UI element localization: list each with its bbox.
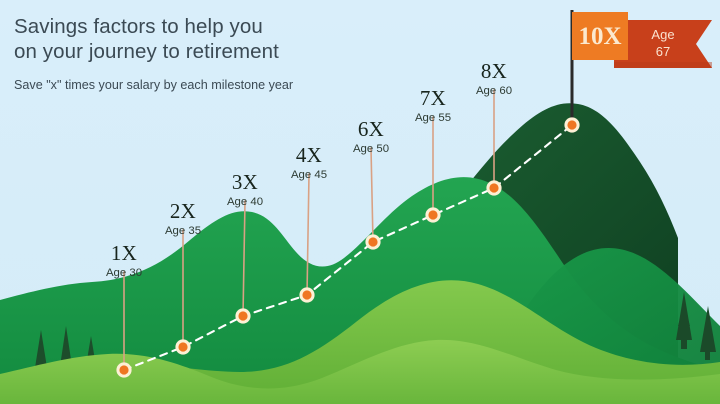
milestone-multiplier: 3X [227, 171, 263, 193]
milestone-multiplier: 4X [291, 144, 327, 166]
marker-6x[interactable] [365, 234, 380, 249]
milestone-label-2x[interactable]: 2X Age 35 [165, 200, 201, 238]
milestone-label-1x[interactable]: 1X Age 30 [106, 242, 142, 280]
retirement-flag[interactable]: 10X Age 67 [540, 4, 716, 124]
heading-block: Savings factors to help you on your jour… [14, 14, 414, 93]
milestone-label-7x[interactable]: 7X Age 55 [415, 87, 451, 125]
milestone-label-3x[interactable]: 3X Age 40 [227, 171, 263, 209]
flag-age-label: Age [651, 27, 674, 42]
flag-multiplier-text: 10X [578, 23, 621, 50]
page-title-line1: Savings factors to help you [14, 14, 414, 39]
milestone-multiplier: 2X [165, 200, 201, 222]
milestone-multiplier: 8X [476, 60, 512, 82]
stem-6x [371, 148, 373, 242]
milestone-label-8x[interactable]: 8X Age 60 [476, 60, 512, 98]
flag-ribbon-shadow [614, 62, 712, 68]
milestone-age: Age 55 [415, 111, 451, 125]
marker-7x[interactable] [425, 207, 440, 222]
stem-3x [243, 201, 245, 316]
milestone-label-6x[interactable]: 6X Age 50 [353, 118, 389, 156]
milestone-multiplier: 7X [415, 87, 451, 109]
page-subtitle: Save "x" times your salary by each miles… [14, 77, 414, 93]
milestone-age: Age 60 [476, 84, 512, 98]
marker-8x[interactable] [486, 180, 501, 195]
flag-age-value: 67 [656, 44, 670, 59]
infographic-canvas: Savings factors to help you on your jour… [0, 0, 720, 404]
milestone-age: Age 40 [227, 195, 263, 209]
marker-2x[interactable] [175, 339, 190, 354]
page-title-line2: on your journey to retirement [14, 39, 414, 64]
milestone-age: Age 35 [165, 224, 201, 238]
milestone-age: Age 30 [106, 266, 142, 280]
milestone-markers[interactable] [116, 117, 579, 377]
marker-1x[interactable] [116, 362, 131, 377]
stem-4x [307, 174, 309, 295]
milestone-multiplier: 6X [353, 118, 389, 140]
milestone-age: Age 45 [291, 168, 327, 182]
marker-3x[interactable] [235, 308, 250, 323]
milestone-age: Age 50 [353, 142, 389, 156]
marker-4x[interactable] [299, 287, 314, 302]
milestone-label-4x[interactable]: 4X Age 45 [291, 144, 327, 182]
milestone-multiplier: 1X [106, 242, 142, 264]
